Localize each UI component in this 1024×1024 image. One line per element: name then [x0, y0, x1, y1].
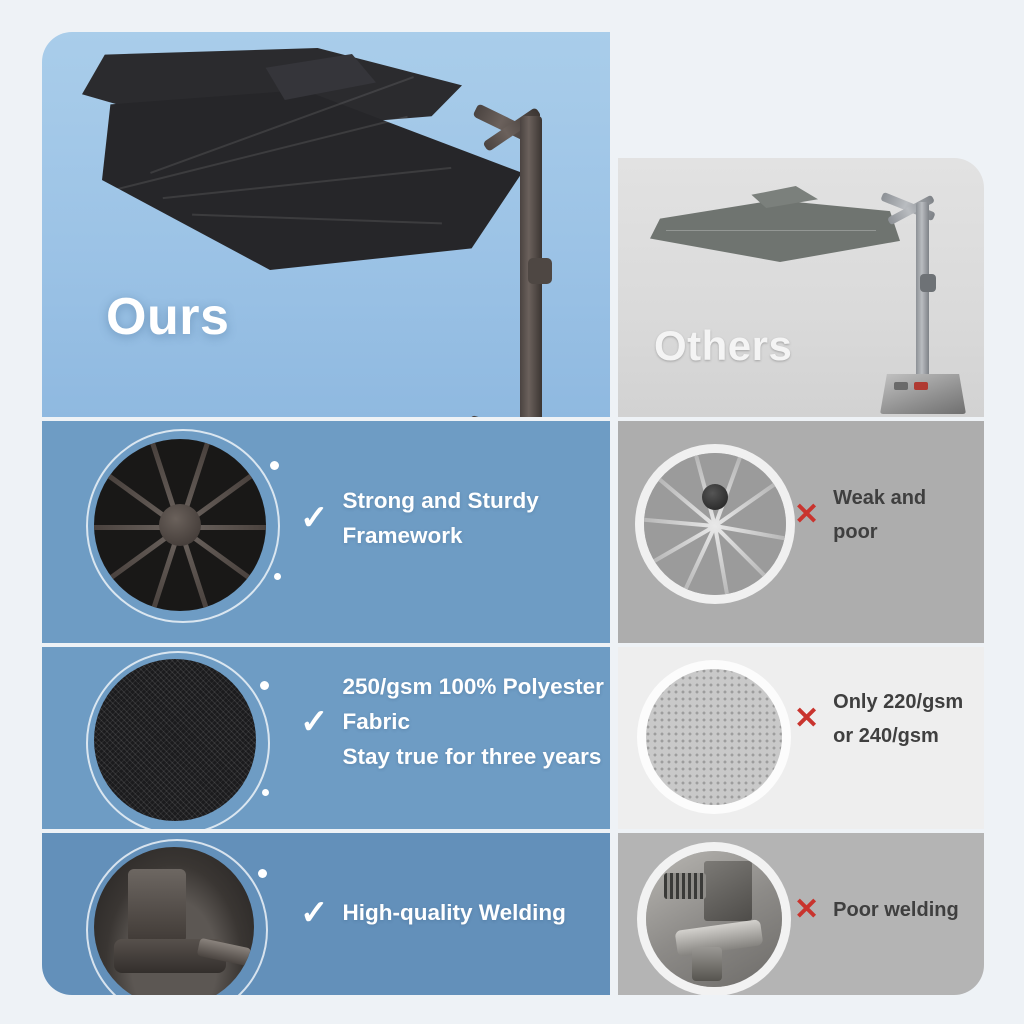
feature-line: Strong and Sturdy — [343, 483, 539, 518]
ring-dot-icon — [262, 789, 269, 796]
ours-feature-row-2: ✓ 250/gsm 100% Polyester Fabric Stay tru… — [42, 647, 610, 829]
comparison-infographic: Ours ✓ — [0, 0, 1024, 1024]
feature-line: Framework — [343, 518, 539, 553]
others-feature-row-2: ✕ Only 220/gsm or 240/gsm — [618, 647, 984, 829]
others-feature-3: ✕ Poor welding — [794, 893, 959, 927]
checkmark-icon: ✓ — [300, 705, 329, 739]
feature-line: or 240/gsm — [833, 719, 963, 753]
others-feature-3-text: Poor welding — [833, 893, 959, 927]
ours-feature-2-text: 250/gsm 100% Polyester Fabric Stay true … — [343, 669, 604, 774]
others-feature-2-text: Only 220/gsm or 240/gsm — [833, 685, 963, 753]
ring-dot-icon — [274, 573, 281, 580]
ours-feature-2-image — [94, 659, 256, 821]
checkmark-icon: ✓ — [300, 501, 329, 535]
ours-label: Ours — [106, 287, 229, 347]
ours-feature-1-image — [94, 439, 266, 611]
cross-icon: ✕ — [794, 500, 819, 530]
ours-feature-1-text: Strong and Sturdy Framework — [343, 483, 539, 553]
ours-feature-row-3: ✓ High-quality Welding — [42, 833, 610, 995]
ours-feature-3-text: High-quality Welding — [343, 895, 566, 930]
others-label: Others — [654, 322, 792, 370]
others-feature-1-text: Weak and poor — [833, 481, 926, 549]
cross-icon: ✕ — [794, 704, 819, 734]
feature-line: High-quality Welding — [343, 895, 566, 930]
others-feature-row-1: ✕ Weak and poor — [618, 421, 984, 643]
others-feature-2-image — [646, 669, 782, 805]
others-column: Others ✕ Weak and — [618, 158, 984, 995]
feature-line: 250/gsm 100% Polyester — [343, 669, 604, 704]
ours-feature-2: ✓ 250/gsm 100% Polyester Fabric Stay tru… — [300, 669, 604, 774]
others-feature-1: ✕ Weak and poor — [794, 481, 926, 549]
feature-line: Only 220/gsm — [833, 685, 963, 719]
others-hero-panel: Others — [618, 158, 984, 417]
others-feature-row-3: ✕ Poor welding — [618, 833, 984, 995]
others-feature-2: ✕ Only 220/gsm or 240/gsm — [794, 685, 963, 753]
ours-column: Ours ✓ — [42, 32, 610, 995]
cross-icon: ✕ — [794, 895, 819, 925]
ours-feature-3-image — [94, 847, 254, 995]
ours-feature-row-1: ✓ Strong and Sturdy Framework — [42, 421, 610, 643]
feature-line: poor — [833, 515, 926, 549]
others-hero-image — [618, 158, 984, 417]
feature-line: Weak and — [833, 481, 926, 515]
feature-line: Poor welding — [833, 893, 959, 927]
ring-dot-icon — [270, 461, 279, 470]
feature-line: Stay true for three years — [343, 739, 604, 774]
feature-line: Fabric — [343, 704, 604, 739]
ours-feature-1: ✓ Strong and Sturdy Framework — [300, 483, 539, 553]
others-feature-1-image — [644, 453, 786, 595]
others-feature-3-image — [646, 851, 782, 987]
ours-hero-panel: Ours — [42, 32, 610, 417]
ring-dot-icon — [260, 681, 269, 690]
ours-feature-3: ✓ High-quality Welding — [300, 895, 566, 930]
ring-dot-icon — [258, 869, 267, 878]
ours-hero-image — [42, 32, 610, 417]
checkmark-icon: ✓ — [300, 896, 329, 930]
